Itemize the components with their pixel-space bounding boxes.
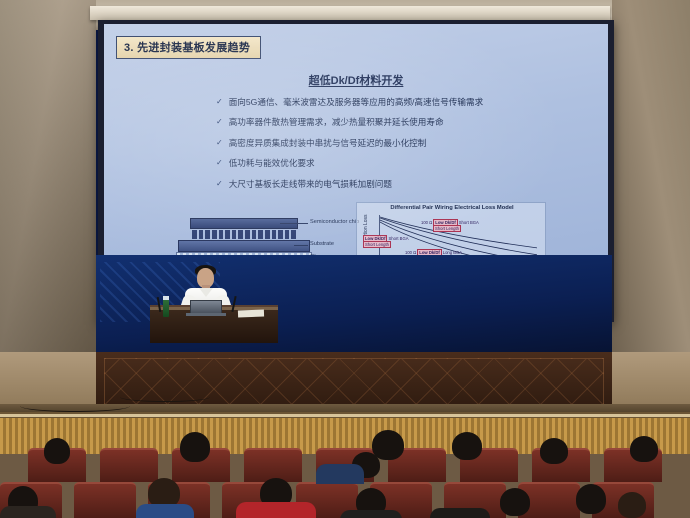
annotation-prefix: 100 Ω [421, 220, 432, 225]
auditorium-seat [100, 448, 158, 482]
bullet-text: 高功率器件散热管理需求，减少热量积聚并延长使用寿命 [229, 118, 444, 127]
bullet-text: 低功耗与能效优化要求 [229, 159, 315, 168]
list-item: ✓ 面向5G通信、毫米波雷达及服务器等应用的高频/高速信号传输需求 [216, 98, 576, 107]
right-wall [612, 0, 690, 352]
audience-head [44, 438, 70, 464]
floor-edge-strip [0, 414, 690, 417]
audience-shoulders [430, 508, 490, 518]
checkmark-icon: ✓ [216, 118, 223, 127]
annotation-highlight-2: Short Length [363, 241, 391, 248]
list-item: ✓ 高功率器件散热管理需求，减少热量积聚并延长使用寿命 [216, 118, 576, 127]
audience-head [630, 436, 658, 462]
slide-title-banner: 3. 先进封装基板发展趋势 [116, 36, 261, 59]
floor-cable [120, 392, 210, 402]
list-item: ✓ 高密度异质集成封装中串扰与信号延迟的最小化控制 [216, 139, 576, 148]
bullet-list: ✓ 面向5G通信、毫米波雷达及服务器等应用的高频/高速信号传输需求 ✓ 高功率器… [216, 98, 576, 200]
chart-annotation: Short Length [433, 225, 461, 232]
checkmark-icon: ✓ [216, 139, 223, 148]
chart-annotation: Short Length [363, 241, 391, 248]
audience-head [500, 488, 530, 516]
lecture-hall-photo: 3. 先进封装基板发展趋势 超低Dk/Df材料开发 ✓ 面向5G通信、毫米波雷达… [0, 0, 690, 518]
chip-label: Semiconductor chip [310, 219, 359, 225]
leader-line-chip [280, 223, 308, 224]
auditorium-seat [244, 448, 302, 482]
ceiling-light-strip [90, 6, 610, 20]
slide-subtitle: 超低Dk/Df材料开发 [104, 72, 608, 88]
chart-y-axis-label: Insertion Loss [363, 203, 369, 257]
audience-head [540, 438, 568, 464]
annotation-highlight-2: Short Length [433, 225, 461, 232]
audience-area [0, 430, 690, 518]
audience-shoulders [316, 464, 364, 484]
left-wall-shading [0, 0, 96, 352]
list-item: ✓ 低功耗与能效优化要求 [216, 159, 576, 168]
checkmark-icon: ✓ [216, 159, 223, 168]
audience-head [618, 492, 646, 518]
list-item: ✓ 大尺寸基板长走线带来的电气损耗加剧问题 [216, 180, 576, 189]
audience-head [452, 432, 482, 460]
floor-cable [20, 400, 130, 412]
auditorium-seat [74, 482, 136, 518]
audience-head [576, 484, 606, 514]
audience-shoulders [136, 504, 194, 518]
bullet-text: 面向5G通信、毫米波雷达及服务器等应用的高频/高速信号传输需求 [229, 98, 483, 107]
presentation-slide: 3. 先进封装基板发展趋势 超低Dk/Df材料开发 ✓ 面向5G通信、毫米波雷达… [104, 24, 608, 294]
audience-shoulders-red-hoodie [236, 502, 316, 518]
laptop-screen [190, 300, 222, 314]
bullet-text: 大尺寸基板长走线带来的电气损耗加剧问题 [229, 180, 392, 189]
audience-shoulders [340, 510, 402, 518]
laptop-base [186, 313, 226, 316]
checkmark-icon: ✓ [216, 98, 223, 107]
chip-pin-array [192, 230, 296, 239]
bullet-text: 高密度异质集成封装中串扰与信号延迟的最小化控制 [229, 139, 427, 148]
water-bottle [163, 299, 169, 317]
audience-head [180, 432, 210, 462]
audience-head [372, 430, 404, 460]
slide-title: 3. 先进封装基板发展趋势 [124, 39, 250, 55]
annotation-suffix: Short BGA [459, 220, 479, 225]
chart-title: Differential Pair Wiring Electrical Loss… [357, 205, 547, 211]
substrate-label: Substrate [310, 241, 334, 247]
water-bottle-cap [163, 296, 169, 300]
annotation-suffix: Short BGA [388, 236, 408, 241]
papers-on-desk [238, 310, 264, 318]
substrate-layer [178, 240, 310, 252]
checkmark-icon: ✓ [216, 180, 223, 189]
leader-line-substrate [294, 245, 308, 246]
audience-shoulders [0, 506, 56, 518]
